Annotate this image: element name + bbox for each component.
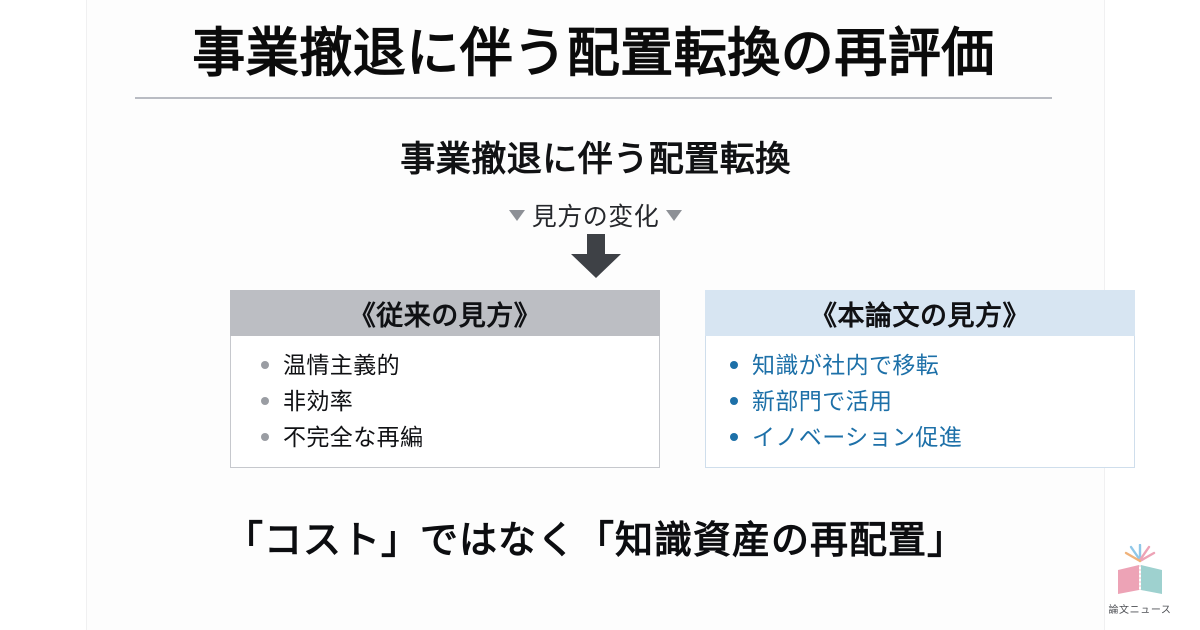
arrow-head — [571, 254, 621, 278]
bullet-icon — [730, 433, 738, 441]
left-gutter — [0, 0, 87, 630]
arrow-down-icon — [571, 234, 621, 278]
bullet-icon — [261, 397, 269, 405]
open-book-icon — [1109, 544, 1171, 600]
list-item: イノベーション促進 — [730, 419, 1120, 455]
conclusion-statement: 「コスト」ではなく「知識資産の再配置」 — [87, 509, 1104, 564]
slide-root: 事業撤退に伴う配置転換の再評価 事業撤退に伴う配置転換 見方の変化 《従来の見方… — [0, 0, 1200, 630]
title-block: 事業撤退に伴う配置転換の再評価 — [135, 24, 1052, 99]
traditional-list: 温情主義的 非効率 不完全な再編 — [261, 347, 645, 455]
change-label: 見方の変化 — [532, 197, 660, 233]
page-title: 事業撤退に伴う配置転換の再評価 — [135, 24, 1052, 83]
list-item: 知識が社内で移転 — [730, 347, 1120, 383]
panel-traditional-body: 温情主義的 非効率 不完全な再編 — [230, 336, 660, 468]
bullet-icon — [261, 433, 269, 441]
panel-traditional-header: 《従来の見方》 — [230, 290, 660, 336]
list-item-label: 新部門で活用 — [752, 390, 892, 413]
flow-arrow — [87, 234, 1104, 278]
title-divider — [135, 97, 1052, 99]
paper-list: 知識が社内で移転 新部門で活用 イノベーション促進 — [730, 347, 1120, 455]
bullet-icon — [730, 361, 738, 369]
panel-paper-body: 知識が社内で移転 新部門で活用 イノベーション促進 — [705, 336, 1135, 468]
brand-logo: 論文ニュース — [1094, 544, 1186, 616]
list-item-label: 非効率 — [283, 390, 353, 413]
panel-paper-view: 《本論文の見方》 知識が社内で移転 新部門で活用 イノベ — [705, 290, 1135, 468]
panel-traditional-view: 《従来の見方》 温情主義的 非効率 不完全な再編 — [230, 290, 660, 468]
list-item-label: 温情主義的 — [283, 354, 400, 377]
caret-down-icon-right — [666, 210, 682, 221]
subtitle: 事業撤退に伴う配置転換 — [87, 131, 1104, 182]
list-item-label: イノベーション促進 — [752, 426, 962, 449]
brand-name: 論文ニュース — [1094, 601, 1186, 616]
list-item: 新部門で活用 — [730, 383, 1120, 419]
panel-paper-header: 《本論文の見方》 — [705, 290, 1135, 336]
list-item: 温情主義的 — [261, 347, 645, 383]
list-item: 不完全な再編 — [261, 419, 645, 455]
list-item-label: 知識が社内で移転 — [752, 354, 939, 377]
bullet-icon — [730, 397, 738, 405]
change-label-row: 見方の変化 — [87, 197, 1104, 233]
list-item-label: 不完全な再編 — [283, 426, 423, 449]
arrow-stem — [587, 234, 605, 256]
comparison-row: 《従来の見方》 温情主義的 非効率 不完全な再編 — [230, 290, 1135, 468]
caret-down-icon-left — [509, 210, 525, 221]
bullet-icon — [261, 361, 269, 369]
list-item: 非効率 — [261, 383, 645, 419]
slide-content-area: 事業撤退に伴う配置転換の再評価 事業撤退に伴う配置転換 見方の変化 《従来の見方… — [87, 0, 1104, 630]
